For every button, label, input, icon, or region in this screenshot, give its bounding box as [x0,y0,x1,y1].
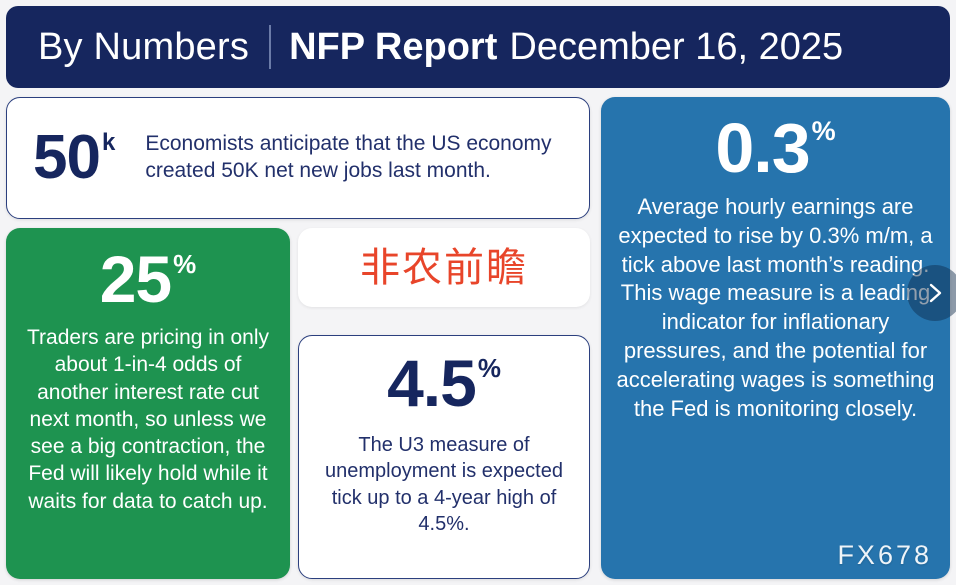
chinese-label-card: 非农前瞻 [298,228,590,307]
stat-description-odds: Traders are pricing in only about 1-in-4… [20,324,276,515]
header-kicker: By Numbers [38,26,249,69]
stat-number-jobs: 50 [33,127,100,189]
stat-card-jobs: 50 k Economists anticipate that the US e… [6,97,590,219]
chevron-right-icon [922,280,948,306]
stat-suffix-odds: % [173,251,196,277]
watermark-fx678: FX678 [837,540,932,571]
stat-suffix-jobs: k [102,131,115,155]
stat-card-rate-cut-odds: 25 % Traders are pricing in only about 1… [6,228,290,579]
next-slide-button[interactable] [907,265,956,321]
stat-description-jobs: Economists anticipate that the US econom… [145,131,573,185]
stat-number-odds: 25 [100,246,171,312]
stat-value-ahe: 0.3 % [715,113,835,183]
stat-number-u3: 4.5 [387,350,476,416]
stat-description-u3: The U3 measure of unemployment is expect… [315,432,573,538]
stat-suffix-ahe: % [812,118,836,145]
chinese-headline-text: 非农前瞻 [360,248,528,288]
stat-value-jobs: 50 k [33,127,115,189]
stat-card-unemployment: 4.5 % The U3 measure of unemployment is … [298,335,590,579]
stat-value-odds: 25 % [100,246,197,312]
stat-value-u3: 4.5 % [387,350,501,416]
stat-suffix-u3: % [478,355,501,381]
page-header: By Numbers NFP Report December 16, 2025 [6,6,950,88]
stat-card-average-hourly-earnings: 0.3 % Average hourly earnings are expect… [601,97,950,579]
header-report-title: NFP Report [289,26,497,69]
header-divider [269,25,271,69]
header-date: December 16, 2025 [509,26,843,69]
stat-description-ahe: Average hourly earnings are expected to … [615,193,936,424]
stat-number-ahe: 0.3 [715,113,809,183]
